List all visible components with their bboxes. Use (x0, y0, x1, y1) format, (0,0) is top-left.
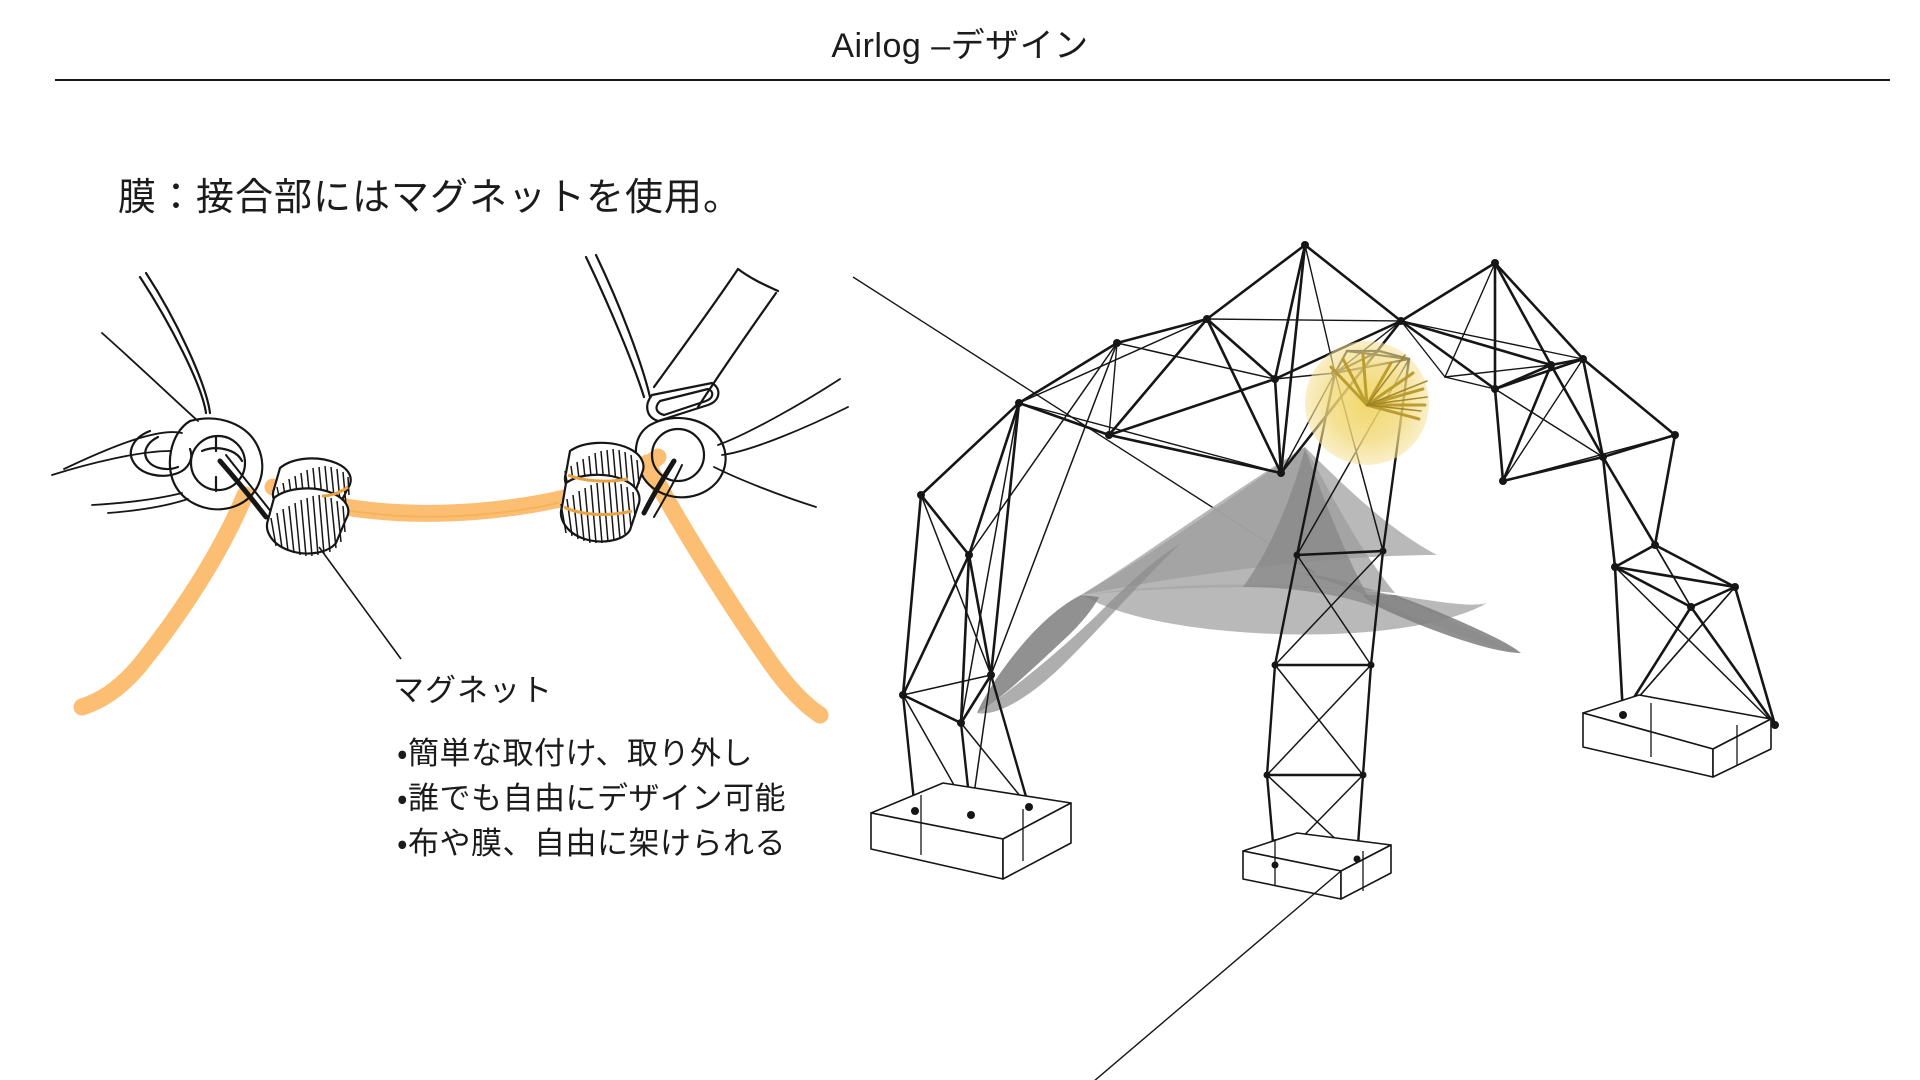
magnet-cylinder-left (267, 458, 351, 556)
leader-line (319, 547, 401, 659)
feature-bullet-list: ・簡単な取付け、取り外し ・誰でも自由にデザイン可能 ・布や膜、自由に架けられる (397, 731, 786, 866)
page-title: Airlog –デザイン (0, 18, 1920, 67)
truss-arch-svg (975, 255, 1905, 1055)
magnet-callout-label: マグネット (393, 665, 553, 710)
section-heading: 膜：接合部にはマグネットを使用。 (118, 166, 742, 221)
list-item: ・布や膜、自由に架けられる (397, 821, 786, 866)
title-divider (55, 79, 1890, 81)
membrane-canopy (977, 447, 1521, 714)
slide-root: Airlog –デザイン 膜：接合部にはマグネットを使用。 (0, 0, 1920, 1080)
list-item: ・誰でも自由にデザイン可能 (397, 776, 786, 821)
magnet-cylinder-right (561, 443, 644, 543)
highlight-circle (1305, 341, 1429, 465)
list-item: ・簡単な取付け、取り外し (397, 731, 786, 776)
truss-arch-render (975, 255, 1905, 1055)
joint-node-left (52, 273, 272, 517)
leader-line-bottom (819, 871, 1341, 1080)
